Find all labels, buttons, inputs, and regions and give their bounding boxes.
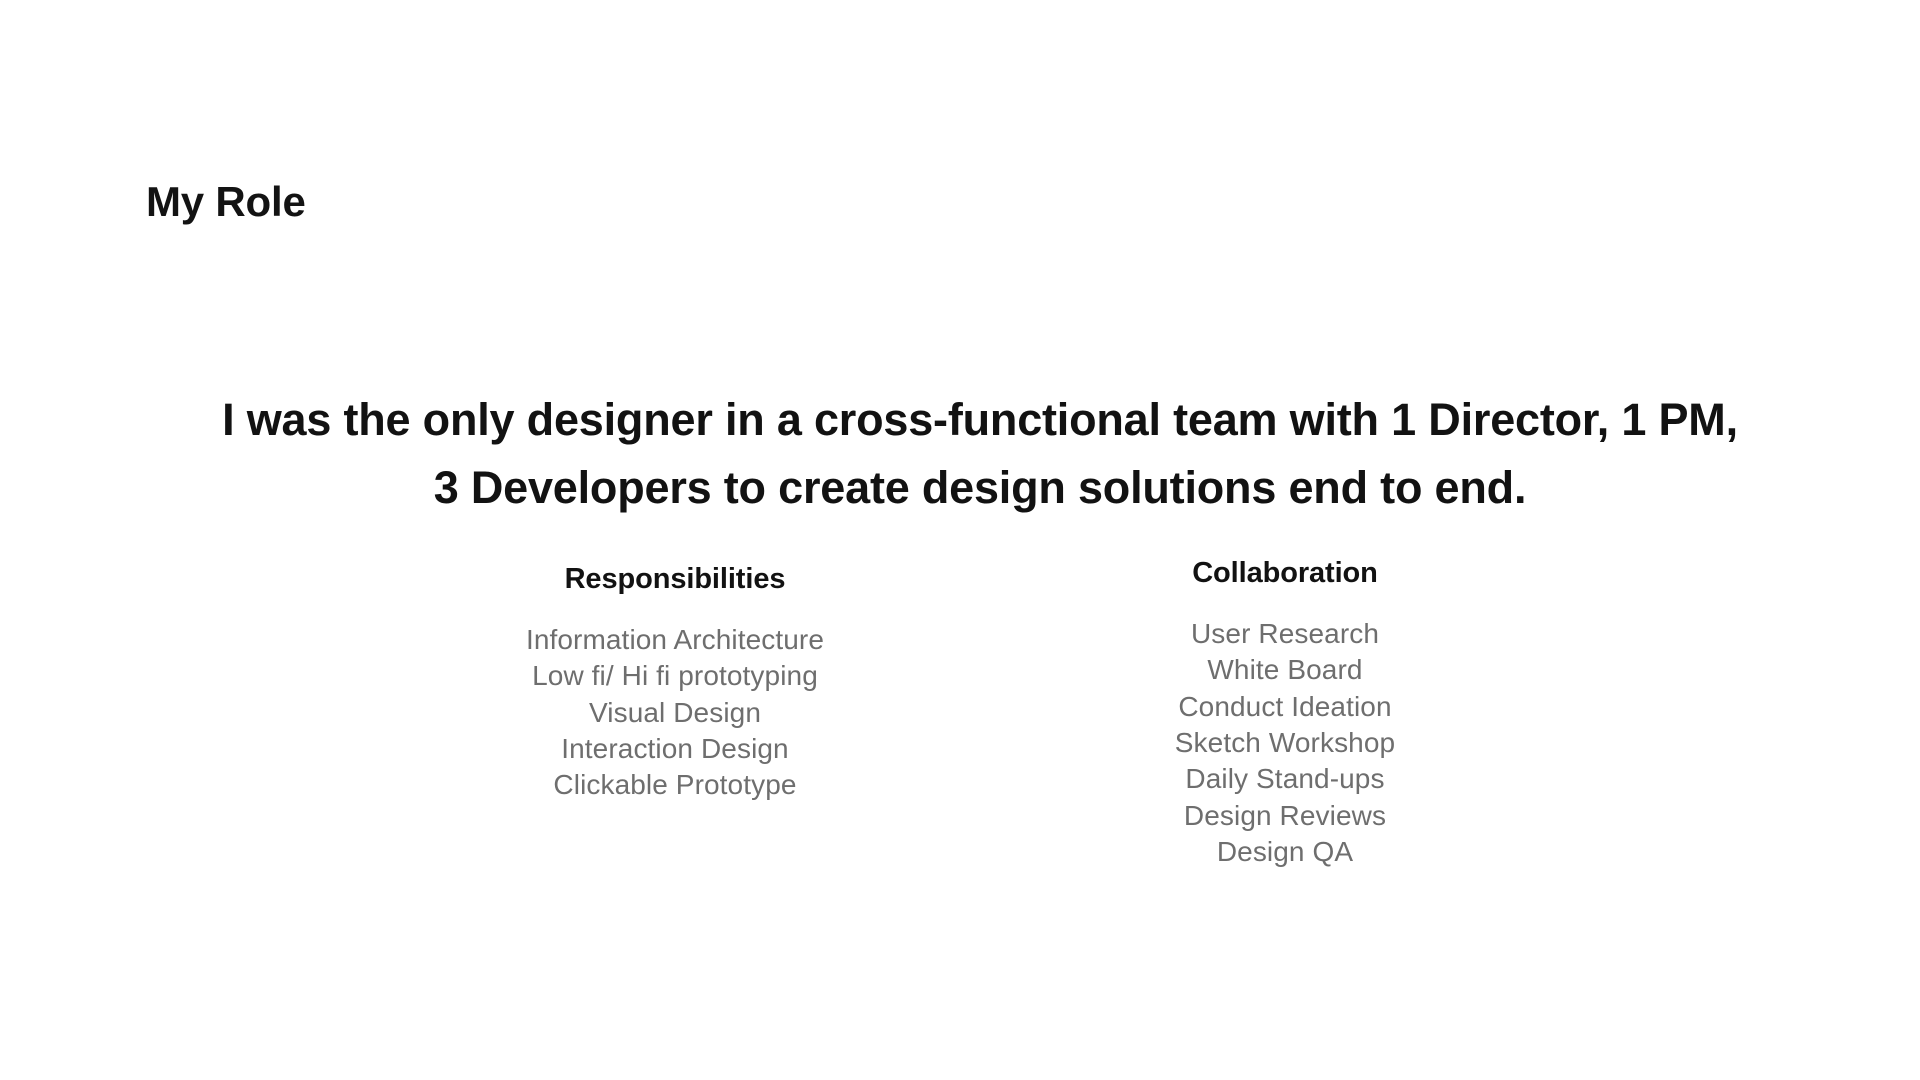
collaboration-list: User Research White Board Conduct Ideati… [1015, 616, 1555, 871]
list-item: Design Reviews [1015, 798, 1555, 834]
list-item: Daily Stand-ups [1015, 761, 1555, 797]
list-item: Visual Design [385, 695, 965, 731]
list-item: Design QA [1015, 834, 1555, 870]
column-responsibilities: Responsibilities Information Architectur… [385, 548, 965, 804]
list-item: Interaction Design [385, 731, 965, 767]
list-item: User Research [1015, 616, 1555, 652]
list-item: White Board [1015, 652, 1555, 688]
list-item: Conduct Ideation [1015, 689, 1555, 725]
slide-my-role: My Role I was the only designer in a cro… [0, 0, 1920, 1080]
responsibilities-list: Information Architecture Low fi/ Hi fi p… [385, 622, 965, 804]
role-columns: Responsibilities Information Architectur… [0, 548, 1920, 968]
page-title: My Role [146, 178, 306, 225]
column-heading-responsibilities: Responsibilities [385, 562, 965, 597]
list-item: Clickable Prototype [385, 767, 965, 803]
headline-statement: I was the only designer in a cross-funct… [210, 386, 1750, 521]
list-item: Information Architecture [385, 622, 965, 658]
list-item: Low fi/ Hi fi prototyping [385, 658, 965, 694]
column-collaboration: Collaboration User Research White Board … [1015, 548, 1555, 871]
list-item: Sketch Workshop [1015, 725, 1555, 761]
column-heading-collaboration: Collaboration [1015, 556, 1555, 591]
